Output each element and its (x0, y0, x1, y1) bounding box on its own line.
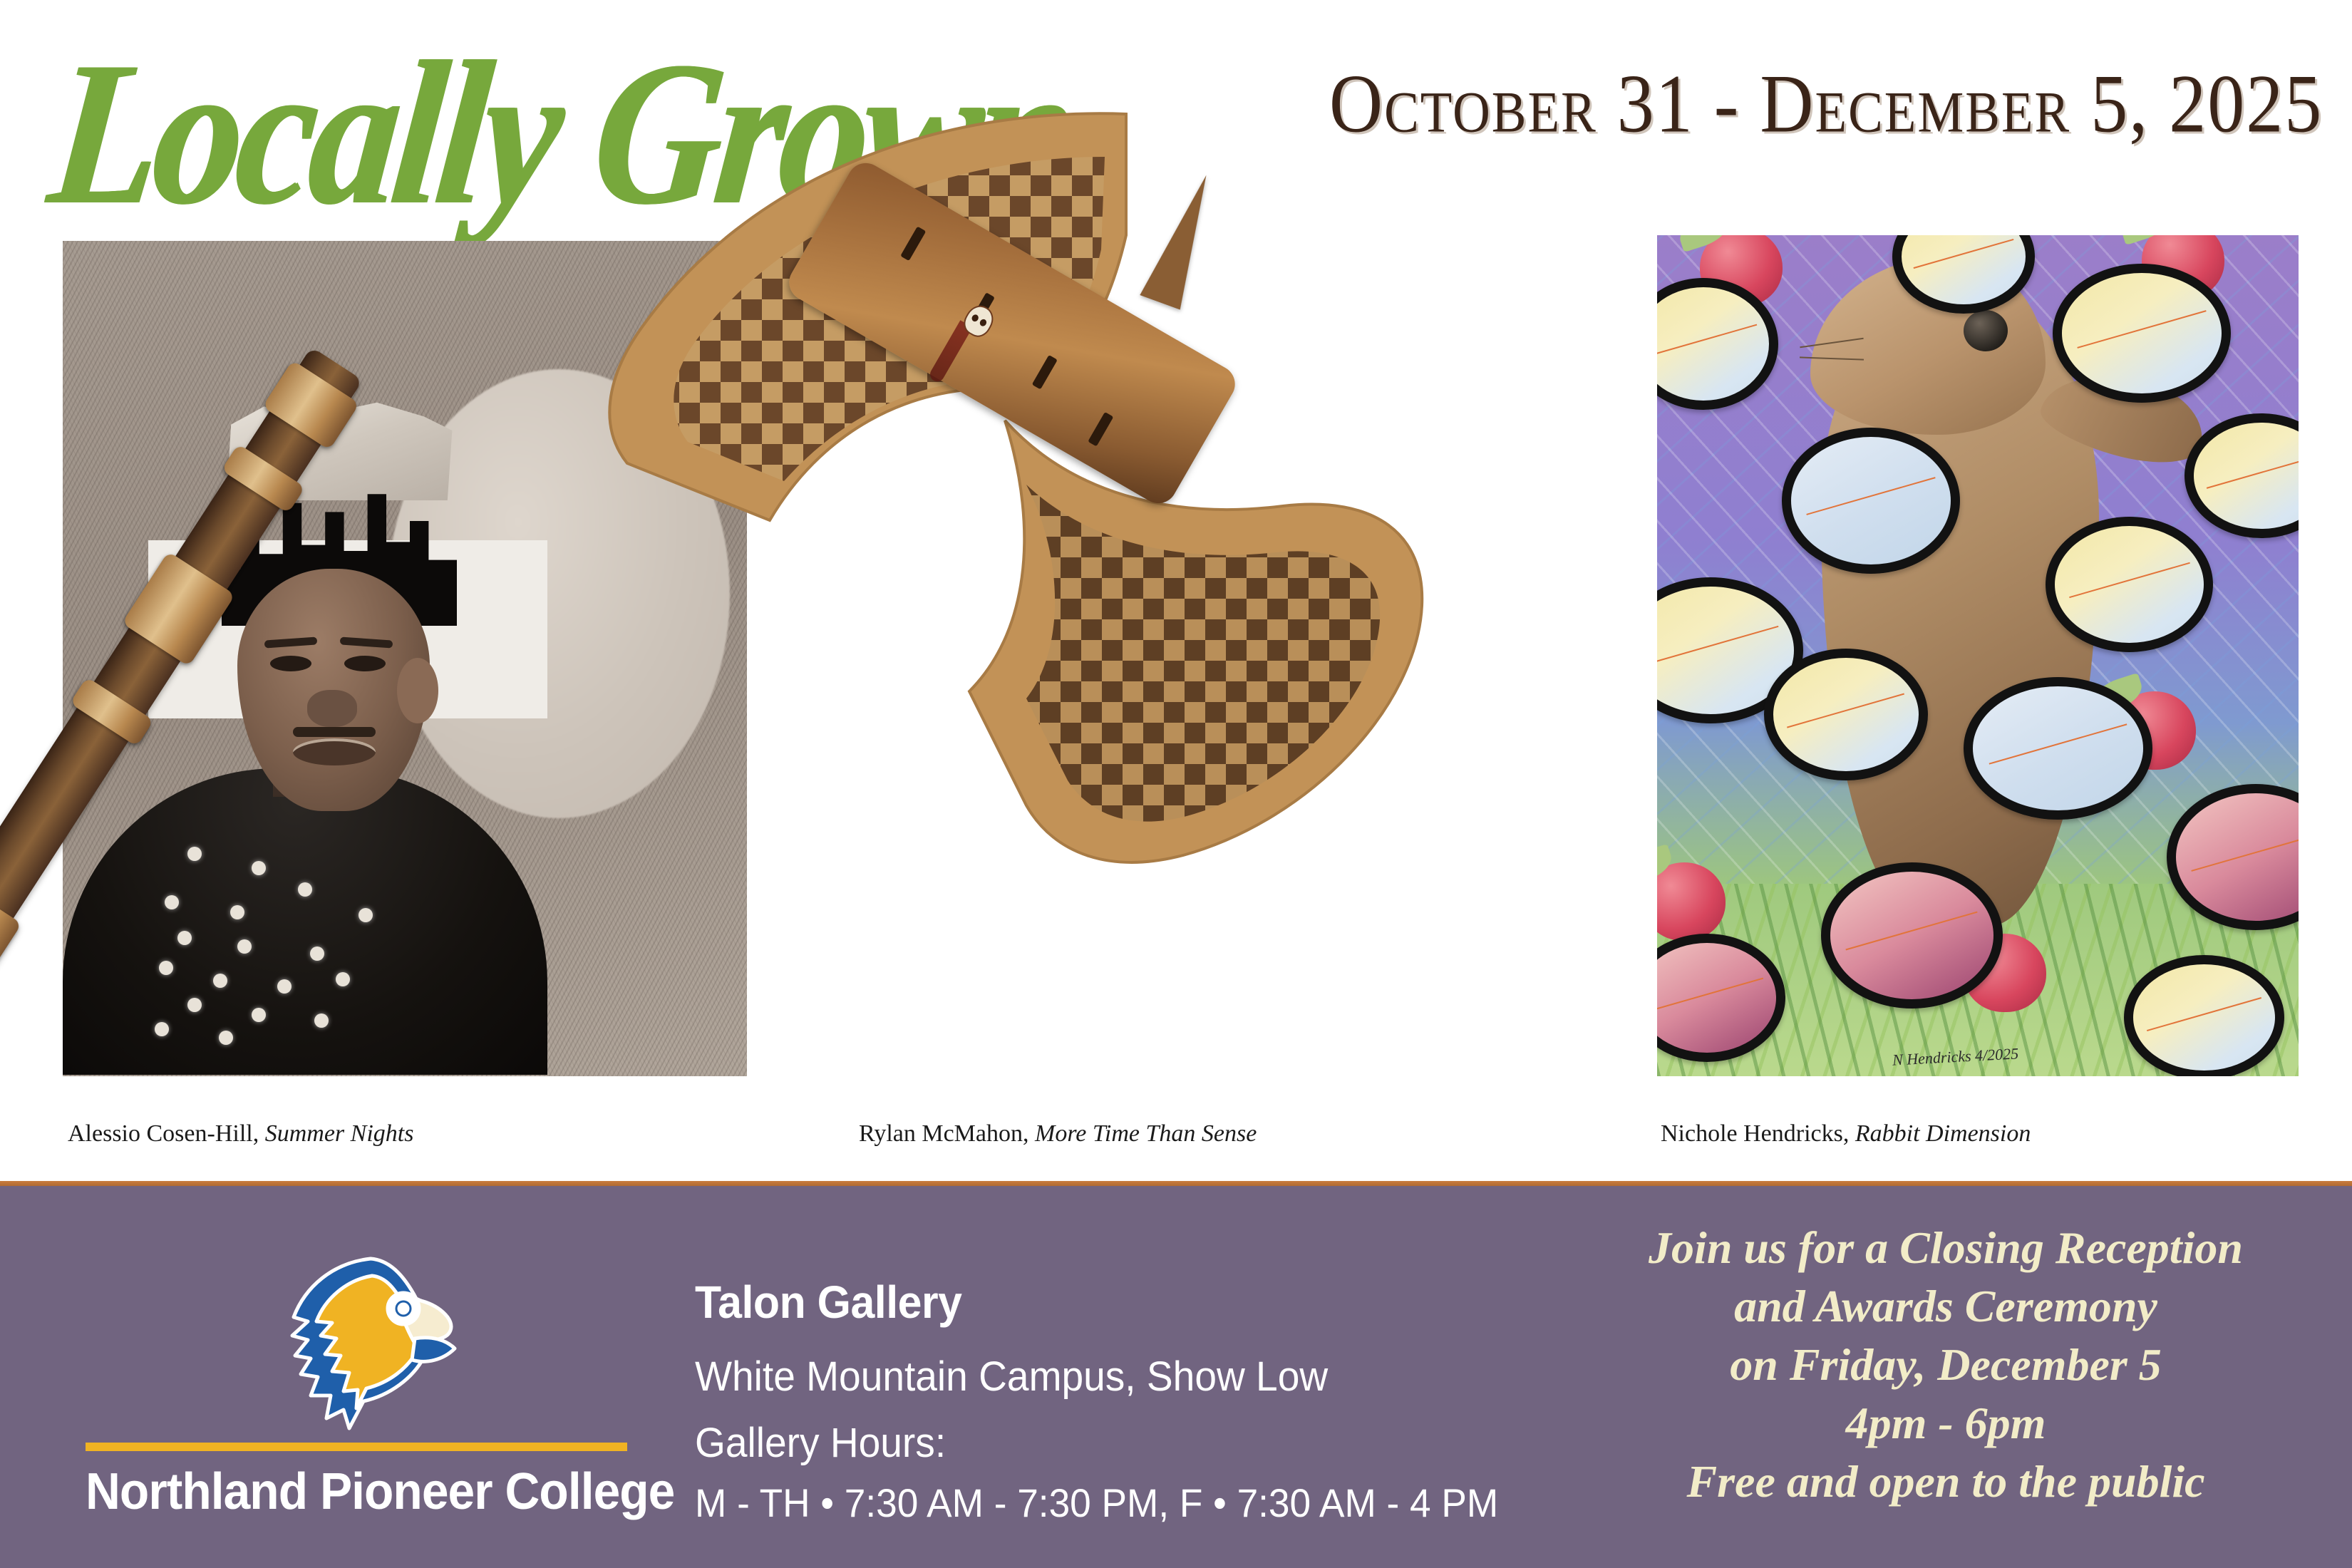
npc-logo: Northland Pioneer College (86, 1249, 627, 1548)
portrait-stud (177, 931, 192, 945)
gallery-hours: M - TH • 7:30 AM - 7:30 PM, F • 7:30 AM … (695, 1480, 1494, 1526)
artwork-caption-2: Rylan McMahon, More Time Than Sense (859, 1120, 1257, 1147)
portrait-mouth (293, 738, 376, 765)
portrait-eye-right (344, 656, 386, 671)
axe-collar (0, 880, 22, 989)
portrait-stud (314, 1013, 329, 1028)
gallery-hours-label: Gallery Hours: (695, 1419, 1494, 1467)
portrait-stud (336, 972, 350, 986)
axe-collar (221, 444, 305, 514)
rabbit-lens (1964, 677, 2152, 820)
band-divider-rule (0, 1181, 2352, 1186)
portrait-stud (298, 882, 312, 897)
portrait-stud (155, 1022, 169, 1036)
portrait-stud (187, 847, 202, 861)
portrait-stud (187, 998, 202, 1012)
portrait-stud (359, 908, 373, 922)
portrait-shirt-studs (145, 840, 444, 1053)
reception-line-5: Free and open to the public (1561, 1453, 2331, 1511)
axe-slot (900, 227, 926, 262)
portrait-stud (237, 939, 252, 954)
portrait-mustache (293, 727, 376, 737)
rabbit-lens (2053, 264, 2231, 403)
gallery-campus: White Mountain Campus, Show Low (695, 1353, 1494, 1401)
portrait-nose (307, 690, 357, 727)
axe-slot (1088, 412, 1113, 447)
artwork-caption-3: Nichole Hendricks, Rabbit Dimension (1661, 1120, 2031, 1147)
reception-line-3: on Friday, December 5 (1561, 1336, 2331, 1394)
gallery-info: Talon Gallery White Mountain Campus, Sho… (695, 1276, 1536, 1544)
artwork-image-rabbit-dimension: N Hendricks 4/2025 (1657, 235, 2299, 1076)
axe-blood-detail (927, 320, 972, 384)
reception-info: Join us for a Closing Reception and Awar… (1561, 1219, 2331, 1511)
artwork-image-more-time-than-sense (613, 121, 1611, 1283)
axe-collar (70, 677, 154, 747)
portrait-ear (397, 658, 438, 723)
reception-line-1: Join us for a Closing Reception (1561, 1219, 2331, 1277)
rabbit-lens (2124, 955, 2284, 1076)
rabbit-lens (1764, 649, 1928, 780)
rabbit-eye (1964, 310, 2008, 351)
portrait-stud (277, 979, 292, 994)
reception-line-2: and Awards Ceremony (1561, 1277, 2331, 1336)
logo-gold-rule (86, 1443, 627, 1451)
portrait-stud (252, 861, 266, 875)
rabbit-lens (1782, 428, 1960, 574)
portrait-stud (252, 1008, 266, 1022)
reception-line-4: 4pm - 6pm (1561, 1394, 2331, 1453)
portrait-stud (159, 961, 173, 975)
axe-slot (1032, 355, 1058, 390)
portrait-stud (165, 895, 179, 909)
portrait-eye-left (270, 656, 311, 671)
rabbit-lens (1821, 862, 2003, 1009)
portrait-stud (230, 905, 244, 919)
gallery-name: Talon Gallery (695, 1276, 1494, 1329)
rabbit-lens (2046, 517, 2213, 652)
portrait-stud (310, 947, 324, 961)
logo-wordmark: Northland Pioneer College (86, 1463, 608, 1521)
artwork-caption-1: Alessio Cosen-Hill, Summer Nights (68, 1120, 413, 1147)
eagle-head-icon (264, 1249, 478, 1434)
portrait-stud (219, 1031, 233, 1045)
portrait-stud (213, 974, 227, 988)
